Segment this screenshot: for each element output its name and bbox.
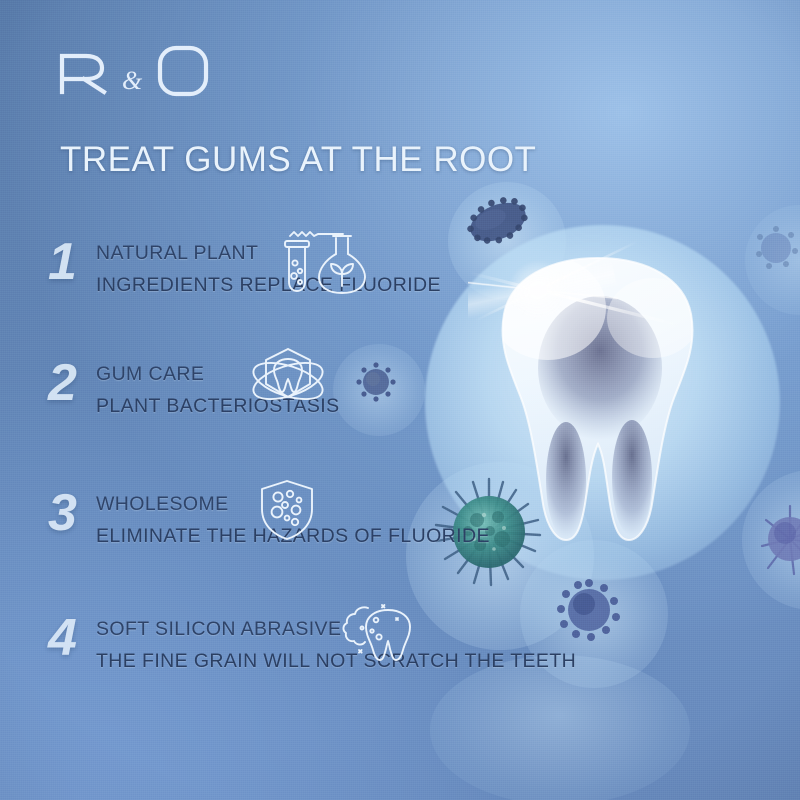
hero-tooth-graphic (488, 248, 708, 548)
background-glow-orb (333, 344, 425, 436)
poster-canvas: & R&O TREAT GUMS AT THE ROOT 1 NATURAL P… (0, 0, 800, 800)
feature-line-2: INGREDIENTS REPLACE FLUORIDE (96, 274, 441, 297)
sparkle-flare-icon (468, 212, 698, 442)
small-virus-particle-germ (352, 358, 400, 406)
background-glow-orb (448, 182, 566, 300)
feature-number: 3 (48, 487, 94, 539)
background-glow-orb (745, 205, 800, 315)
feature-number: 2 (48, 357, 94, 409)
rod-bacterium-germ (458, 190, 538, 254)
tooth-shield-orbit-icon (248, 343, 328, 415)
feature-text: SOFT SILICON ABRASIVE THE FINE GRAIN WIL… (96, 618, 576, 673)
faint-virus-particle-germ (756, 218, 800, 278)
page-title: TREAT GUMS AT THE ROOT (60, 140, 700, 180)
background-glow-orb (430, 655, 690, 800)
background-glow-orb (742, 470, 800, 610)
randm-o-logo: & R&O (56, 34, 236, 98)
svg-text:&: & (122, 66, 143, 95)
feature-line-1: SOFT SILICON ABRASIVE (96, 618, 576, 641)
test-tube-and-leaf-flask-icon (273, 230, 369, 296)
feature-line-1: NATURAL PLANT (96, 242, 441, 265)
feature-text: NATURAL PLANT INGREDIENTS REPLACE FLUORI… (96, 242, 441, 297)
tooth-fine-grain-icon (338, 598, 422, 664)
feature-line-2: THE FINE GRAIN WILL NOT SCRATCH THE TEET… (96, 650, 576, 673)
feature-number: 4 (48, 612, 94, 664)
edge-virus-particle-germ (760, 500, 800, 578)
feature-number: 1 (48, 236, 94, 288)
shield-bubbles-icon (256, 477, 318, 543)
